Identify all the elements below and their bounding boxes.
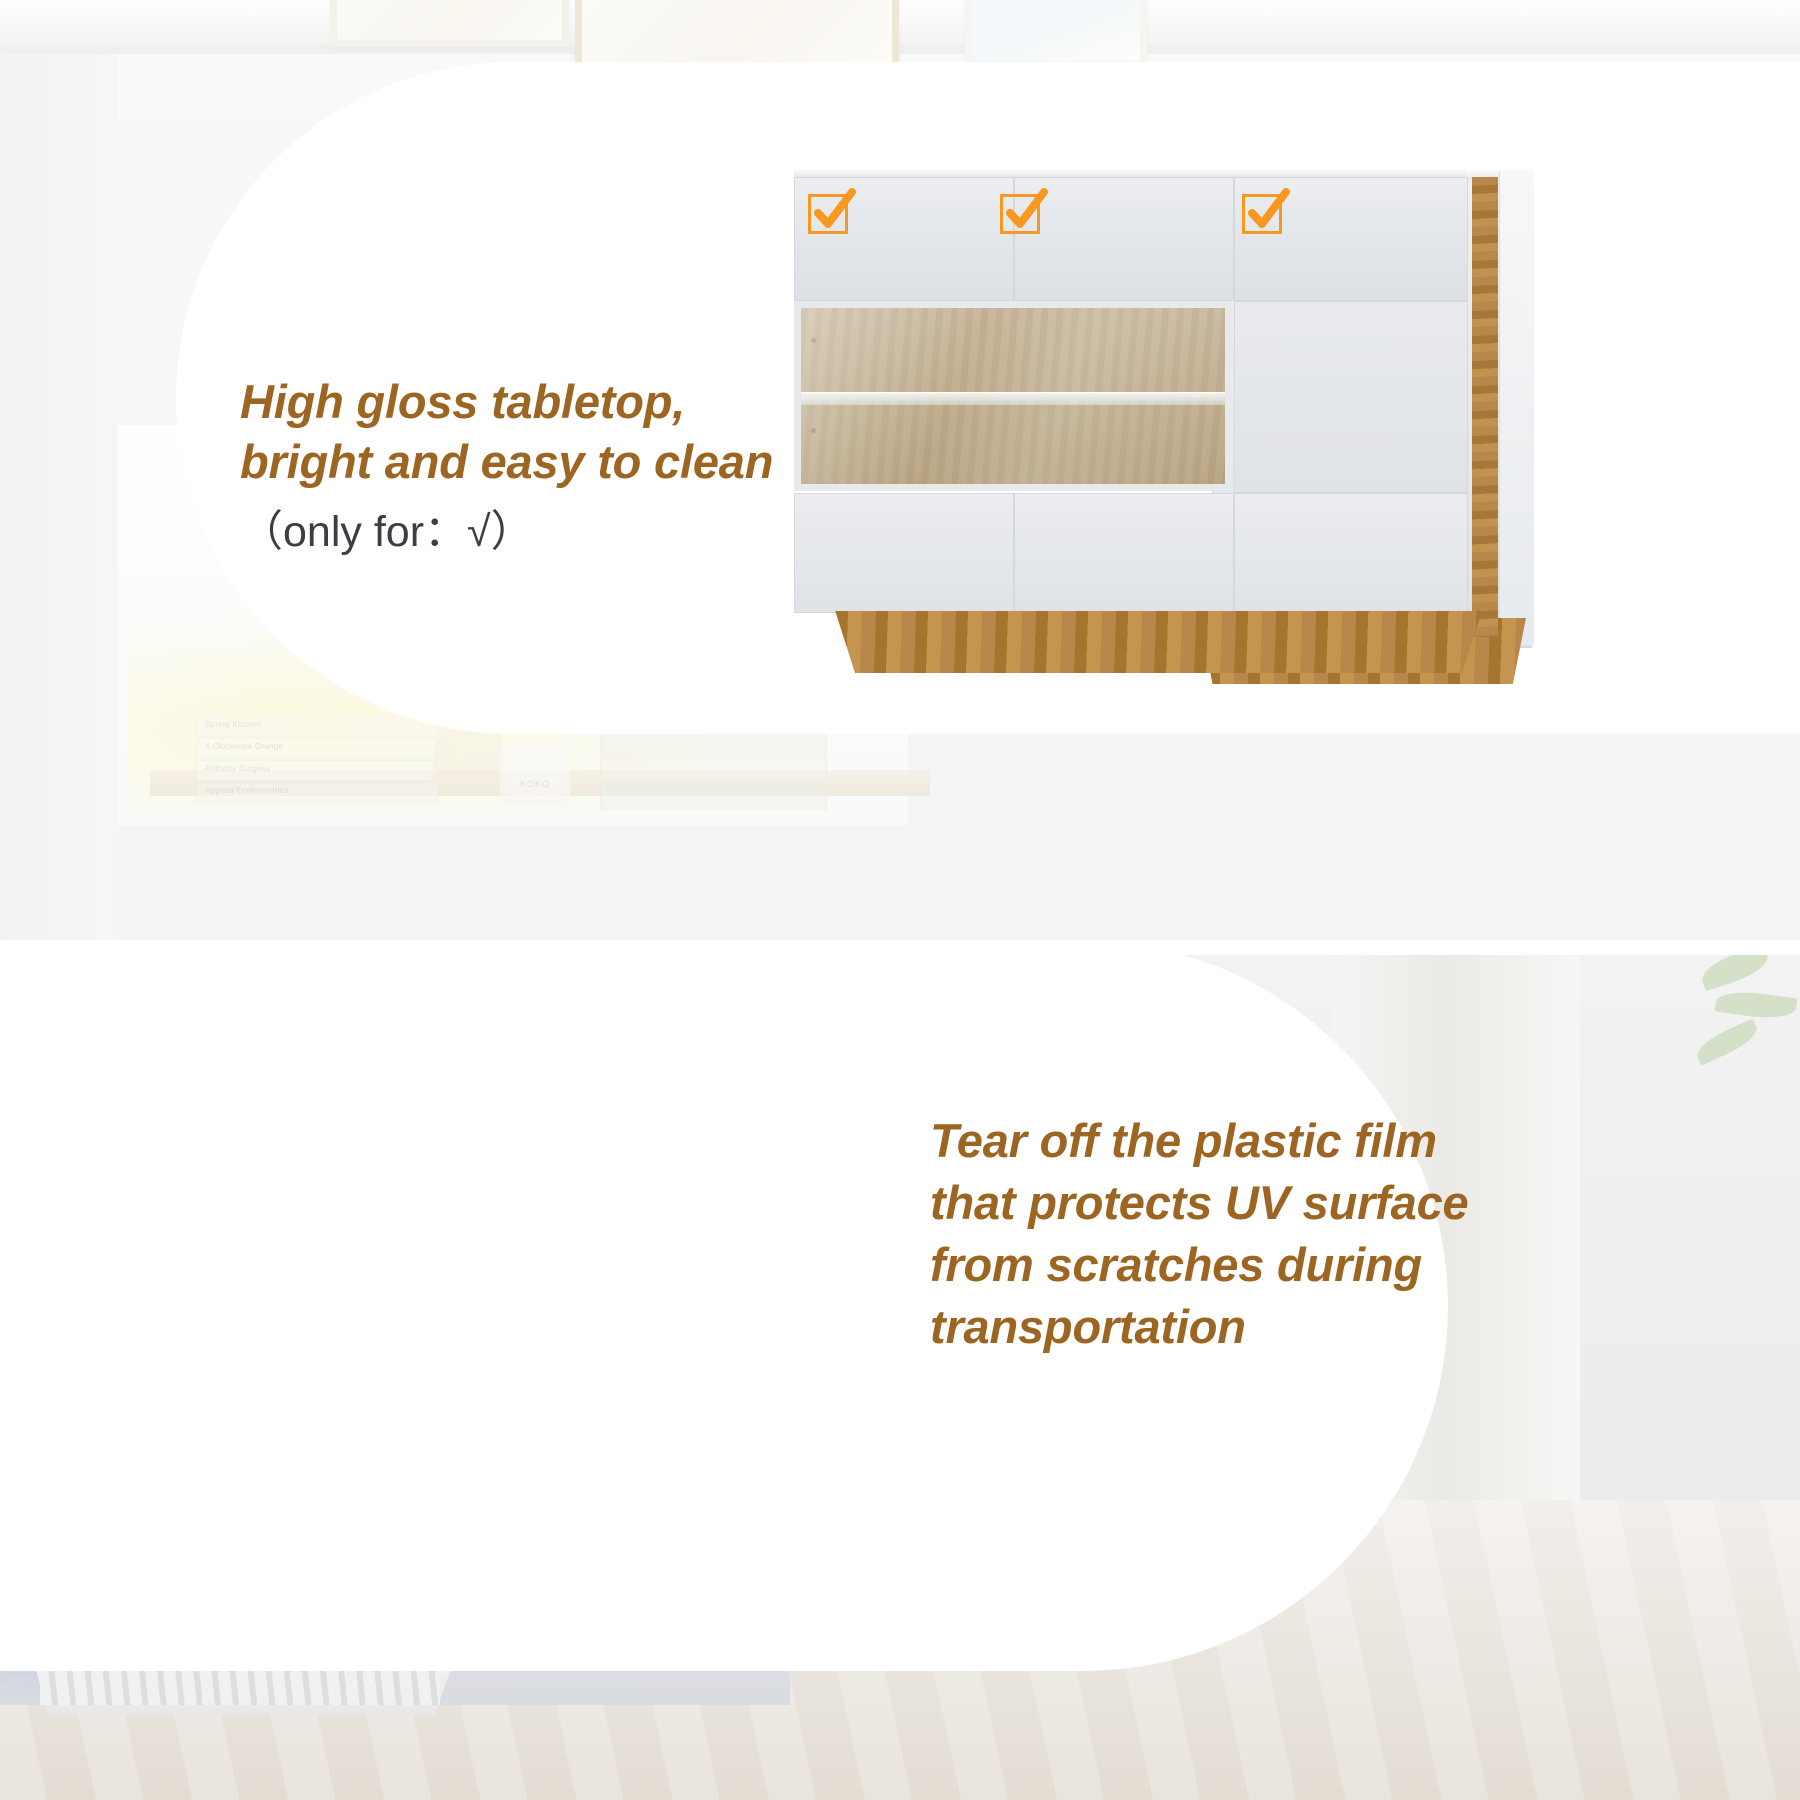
top-headline-line-2: bright and easy to clean: [240, 435, 773, 488]
checkbox-door-right: [1242, 188, 1288, 234]
sideboard-drawer-right: [1234, 493, 1468, 613]
plant-leaf: [1698, 955, 1773, 991]
bottom-headline-line-2: that protects UV surface: [930, 1176, 1468, 1229]
oak-plinth: [822, 611, 1482, 673]
bottom-headline: Tear off the plastic film that protects …: [930, 1110, 1570, 1358]
bottom-headline-line-3: from scratches during: [930, 1238, 1422, 1291]
plant-leaf: [1715, 988, 1798, 1023]
sideboard-top-surface: [794, 168, 1466, 177]
check-mark-icon: [1002, 188, 1048, 234]
oak-vertical-strip: [1472, 177, 1498, 637]
sideboard-tall-door-right: [1234, 301, 1468, 493]
bottom-headline-line-4: transportation: [930, 1300, 1246, 1353]
top-feature-panel: Spring Kitchen A Clockwork Orange Anthon…: [0, 0, 1800, 940]
infographic-root: Spring Kitchen A Clockwork Orange Anthon…: [0, 0, 1800, 1800]
panel-divider: [0, 940, 1800, 955]
bottom-feature-panel: Tear off the plastic film that protects …: [0, 955, 1800, 1800]
checkbox-door-left: [808, 188, 854, 234]
top-text-block: High gloss tabletop, bright and easy to …: [240, 372, 900, 561]
top-subline: （only for：√）: [240, 505, 900, 561]
top-headline-line-1: High gloss tabletop,: [240, 375, 685, 428]
check-mark-icon: [810, 188, 856, 234]
check-mark-icon: [1244, 188, 1290, 234]
sideboard-drawer-middle: [1014, 493, 1234, 613]
checkbox-door-middle: [1000, 188, 1046, 234]
potted-plant: [1690, 955, 1800, 1145]
top-headline: High gloss tabletop, bright and easy to …: [240, 372, 900, 491]
plant-leaf: [1692, 1019, 1761, 1066]
bottom-headline-line-1: Tear off the plastic film: [930, 1114, 1437, 1167]
bottom-text-block: Tear off the plastic film that protects …: [930, 1110, 1570, 1358]
